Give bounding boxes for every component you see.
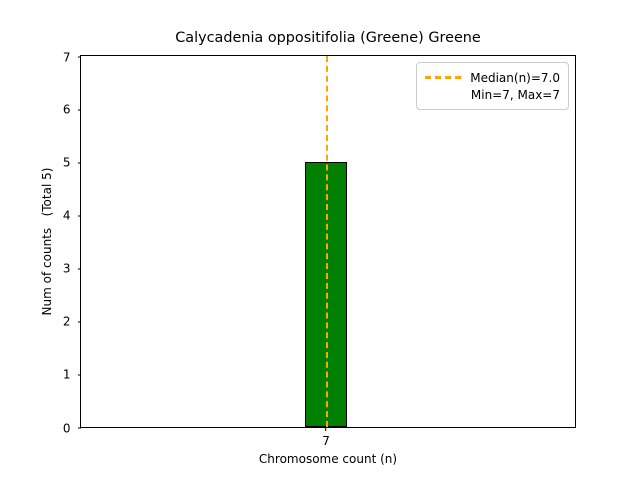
y-axis-tick-mark — [78, 268, 82, 269]
y-axis-tick-mark — [78, 109, 82, 110]
x-axis-tick: 7 — [322, 427, 330, 448]
x-axis-label: Chromosome count (n) — [80, 452, 576, 466]
y-axis-tick-label: 1 — [63, 368, 78, 382]
y-axis-tick-label: 3 — [63, 262, 78, 276]
median-line — [326, 56, 328, 427]
y-axis-tick: 0 — [63, 418, 81, 437]
legend: Median(n)=7.0 Min=7, Max=7 — [416, 62, 569, 110]
y-axis-tick-mark — [78, 162, 82, 163]
y-axis-tick: 4 — [63, 205, 81, 224]
legend-item-minmax: Min=7, Max=7 — [425, 86, 560, 103]
dashed-line-icon — [425, 76, 461, 79]
plot-area: 7 6 5 4 3 2 1 0 7 — [80, 55, 576, 428]
y-axis-tick: 3 — [63, 258, 81, 277]
legend-item-median: Median(n)=7.0 — [425, 69, 560, 86]
y-axis-tick-mark — [78, 374, 82, 375]
legend-label: Median(n)=7.0 — [470, 71, 560, 85]
y-axis-tick: 2 — [63, 311, 81, 330]
y-axis-tick-label: 4 — [63, 209, 78, 223]
y-axis-label: Num of counts (Total 5) — [32, 55, 62, 428]
y-axis-tick-mark — [78, 215, 82, 216]
y-axis-tick: 1 — [63, 364, 81, 383]
y-axis-tick-label: 0 — [63, 421, 78, 435]
y-axis-tick-label: 5 — [63, 156, 78, 170]
x-axis-tick-mark — [325, 427, 326, 431]
y-axis-tick-mark — [78, 56, 82, 57]
y-axis-tick: 7 — [63, 47, 81, 66]
y-axis-tick-label: 6 — [63, 103, 78, 117]
y-axis-tick: 6 — [63, 99, 81, 118]
page-title: Calycadenia oppositifolia (Greene) Green… — [80, 30, 576, 46]
blank-swatch-icon — [425, 93, 461, 96]
x-axis-tick-label: 7 — [322, 434, 330, 448]
legend-label: Min=7, Max=7 — [470, 88, 560, 102]
y-axis-tick-mark — [78, 321, 82, 322]
y-axis-tick-mark — [78, 427, 82, 428]
y-axis-tick: 5 — [63, 152, 81, 171]
chart-figure: Calycadenia oppositifolia (Greene) Green… — [0, 0, 640, 480]
y-axis-tick-label: 2 — [63, 315, 78, 329]
y-axis-tick-label: 7 — [63, 50, 78, 64]
